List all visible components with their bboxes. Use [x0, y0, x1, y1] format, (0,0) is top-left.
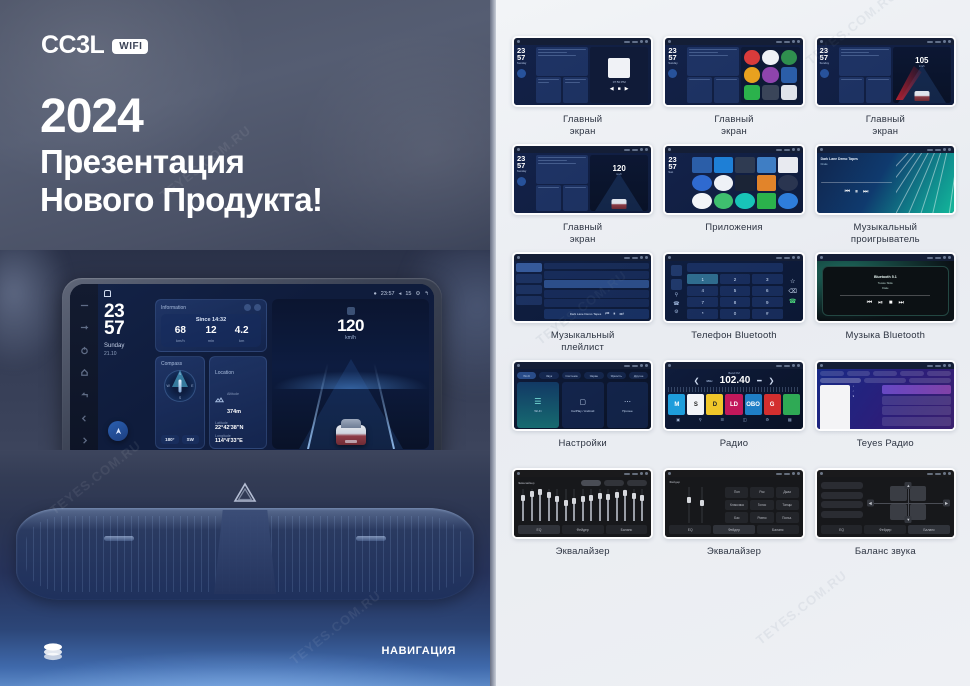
a-pillar-left	[0, 250, 70, 370]
speed-value: 120	[272, 317, 429, 334]
preset-key[interactable]: Бас	[725, 512, 748, 523]
trip-stat: 12 min	[196, 326, 227, 343]
app-icon[interactable]	[735, 193, 754, 209]
seek-next-button[interactable]	[80, 436, 89, 445]
trip-since: Since 14:32	[165, 317, 257, 323]
gallery-caption: Эквалайзер	[556, 546, 610, 570]
track-title: Dark Lane Demo Tapes	[821, 157, 893, 161]
caption-line-2: экран	[866, 126, 905, 138]
gallery-caption: Музыка Bluetooth	[846, 330, 926, 354]
balance-up-button[interactable]: ▲	[905, 482, 912, 489]
dialpad-key[interactable]: 4	[687, 286, 718, 296]
balance-preset[interactable]	[821, 482, 863, 489]
compass-direction: SW	[182, 435, 200, 444]
stop-icon[interactable]: ■	[889, 300, 893, 307]
settings-card[interactable]: ▢ CarPlay / Android	[562, 382, 604, 428]
audio-tabs[interactable]: EQ Фейдер Баланс	[669, 525, 798, 534]
compass-north: N	[179, 372, 182, 376]
volume-icon: ◂	[399, 291, 402, 297]
speed-unit: km/h	[272, 335, 429, 341]
gallery-caption: Телефон Bluetooth	[691, 330, 777, 354]
dialed-number-field[interactable]	[687, 263, 782, 272]
compass-dial: N S W E	[164, 370, 196, 402]
teyes-subtab[interactable]	[909, 378, 951, 383]
car-dashboard-photo: ● 23:57 ◂ 15 ⚙ ↰ 23 57 Sunday 21.10	[0, 250, 490, 686]
caption-line-1: Музыка Bluetooth	[846, 330, 926, 342]
eq-band[interactable]	[588, 489, 594, 521]
progress-bar[interactable]	[821, 182, 893, 183]
prev-icon[interactable]: ◀	[610, 86, 614, 92]
wifi-badge: WIFI	[112, 39, 148, 54]
dialpad-key[interactable]: 5	[720, 286, 751, 296]
dialpad-key[interactable]: #	[752, 309, 783, 319]
audio-tab[interactable]: Баланс	[757, 525, 799, 534]
thumb-clock-minutes: 57	[820, 54, 837, 61]
back-button[interactable]	[80, 391, 89, 400]
thumbnail-teyes-radio[interactable]: ♪○♥	[815, 360, 956, 431]
visualizer-lines	[896, 153, 954, 213]
favorite-icon[interactable]: ☆	[790, 278, 795, 285]
hardware-button-strip[interactable]	[70, 284, 98, 462]
eq-band[interactable]	[520, 489, 526, 521]
eq-band[interactable]	[596, 489, 602, 521]
app-icon[interactable]	[757, 175, 776, 191]
driving-view-widget[interactable]: 120 km/h	[272, 299, 429, 449]
navigation-arrow-icon[interactable]	[108, 421, 128, 441]
thumb-speed-unit: km/h	[590, 173, 648, 176]
apps-icon[interactable]: ▦	[788, 417, 792, 422]
preset-key[interactable]: Ровно	[750, 512, 773, 523]
caption-line-1: Главный	[563, 222, 602, 234]
settings-tab[interactable]: Другое	[629, 372, 648, 379]
radio-preset[interactable]: S	[687, 394, 704, 415]
caption-line-2: экран	[714, 126, 753, 138]
gallery-caption: Главный экран	[866, 114, 905, 138]
compass-card[interactable]: Compass N S W E 180°	[155, 356, 205, 449]
gallery-item[interactable]: Band FM ❮ MHz 102.40 ━ ❯ M S D LD OB	[663, 360, 804, 462]
compass-east: E	[191, 384, 193, 388]
thumbnail-sound-balance[interactable]: ▲ ▼ ◀ ▶ EQ Фейдер Баланс	[815, 468, 956, 539]
progress-bar[interactable]	[840, 295, 930, 296]
radio-preset[interactable]: LD	[725, 394, 742, 415]
next-icon[interactable]: ⏭	[620, 311, 624, 316]
prev-icon[interactable]: ⏮	[605, 311, 609, 316]
dialpad-key[interactable]: 8	[720, 297, 751, 307]
thumbnail-bluetooth-phone[interactable]: ⚲ ☎ ⚙ 1 2 3 4 5 6 7	[663, 252, 804, 323]
caption-line-1: Телефон Bluetooth	[691, 330, 777, 342]
teyes-tab[interactable]	[927, 371, 951, 376]
balance-presets[interactable]	[821, 482, 863, 523]
settings-card-label: Wi-Fi	[534, 409, 541, 413]
balance-preset[interactable]	[821, 511, 863, 518]
thumbnail-music-player[interactable]: Dark Lane Demo Tapes Drake ⏮ ⏸ ⏭	[815, 144, 956, 215]
dialpad-key[interactable]: 2	[720, 274, 751, 284]
seat	[910, 486, 927, 502]
audio-tabs[interactable]: EQ Фейдер Баланс	[821, 525, 950, 534]
caption-line-2: проигрыватель	[851, 234, 920, 246]
radio-preset[interactable]: D	[706, 394, 723, 415]
dialpad-key[interactable]: 9	[752, 297, 783, 307]
app-icon[interactable]	[692, 157, 711, 173]
settings-tab[interactable]: Звук	[539, 372, 558, 379]
caption-line-1: Teyes Радио	[857, 438, 914, 450]
caption-line-1: Эквалайзер	[707, 546, 761, 558]
screen-body: 23 57 Sunday 21.10 Information	[104, 299, 429, 449]
audio-tab[interactable]: Баланс	[606, 525, 648, 534]
mini-player-bar[interactable]: Dark Lane Demo Tapes ⏮ ⏸ ⏭	[544, 309, 649, 319]
trip-avg-speed-value: 68	[165, 326, 196, 336]
app-icon[interactable]	[757, 157, 776, 173]
refresh-icon[interactable]	[244, 304, 251, 311]
clock-minutes: 57	[104, 320, 150, 337]
latitude-value: 22°42'38"N	[215, 425, 261, 431]
call-log-icon[interactable]: ☎	[673, 301, 679, 307]
thumb-speed-value: 120	[590, 164, 648, 173]
app-icon[interactable]	[692, 193, 711, 209]
settings-tab[interactable]: Яркость	[607, 372, 626, 379]
thumb-clock-minutes: 57	[668, 54, 685, 61]
radio-preset[interactable]: G	[764, 394, 781, 415]
eq-band[interactable]	[605, 489, 611, 521]
radio-toolbar[interactable]: ▣ ⚲ ☰ ◫ ⚙ ▦	[668, 417, 799, 422]
compass-heading: 180°	[161, 435, 179, 444]
head-unit-screen[interactable]: ● 23:57 ◂ 15 ⚙ ↰ 23 57 Sunday 21.10	[70, 284, 434, 462]
audio-tab[interactable]: Баланс	[908, 525, 950, 534]
balance-right-button[interactable]: ▶	[943, 499, 950, 506]
list-icon[interactable]: ☰	[721, 417, 725, 422]
eq-band[interactable]	[639, 489, 645, 521]
gallery-caption: Главный экран	[563, 222, 602, 246]
fader-slider[interactable]	[687, 487, 691, 523]
thumbnail-settings[interactable]: Wi-Fi Звук Система Экран Яркость Другое …	[512, 360, 653, 431]
radio-preset[interactable]: M	[668, 394, 685, 415]
next-icon[interactable]: ▶	[625, 86, 629, 92]
bt-track-artist: Drake	[882, 287, 888, 290]
app-icon[interactable]	[757, 193, 776, 209]
expand-icon[interactable]	[254, 304, 261, 311]
balance-down-button[interactable]: ▼	[905, 516, 912, 523]
preset-key[interactable]: Поп	[725, 487, 748, 498]
eq-band[interactable]	[554, 489, 560, 521]
eq-band[interactable]	[562, 489, 568, 521]
thumb-speed-unit: km/h	[893, 65, 951, 68]
dialpad-key[interactable]: *	[687, 309, 718, 319]
gallery-caption: Радио	[720, 438, 748, 462]
preset-key[interactable]: Джаз	[776, 487, 799, 498]
trip-stat: 68 km/h	[165, 326, 196, 343]
app-icon[interactable]	[778, 193, 797, 209]
thumb-status-bar	[514, 38, 651, 45]
prev-icon[interactable]: ⏮	[845, 189, 850, 196]
phone-link-icon: ▢	[579, 398, 586, 406]
mute-button[interactable]	[80, 301, 89, 310]
next-icon[interactable]: ⏭	[899, 300, 904, 307]
audio-tabs[interactable]: EQ Фейдер Баланс	[518, 525, 647, 534]
app-icon[interactable]	[735, 157, 754, 173]
gallery-item[interactable]: Dark Lane Demo Tapes Drake ⏮ ⏸ ⏭	[815, 144, 956, 246]
dialpad[interactable]: 1 2 3 4 5 6 7 8 9 * 0 #	[687, 274, 782, 319]
teyes-subtab[interactable]	[820, 378, 862, 383]
gallery-item[interactable]: 23 57 Sunday 120	[512, 144, 653, 246]
eq-band[interactable]	[622, 489, 628, 521]
caption-line-1: Главный	[714, 114, 753, 126]
dialpad-key[interactable]: 0	[720, 309, 751, 319]
frequency-scale[interactable]	[668, 387, 799, 392]
app-icon[interactable]	[714, 175, 733, 191]
thumbnail-home-speed[interactable]: 23 57 Sunday 120	[512, 144, 653, 215]
gallery-item[interactable]: 23 57 Sunday	[815, 36, 956, 138]
thumbnail-home-apps[interactable]: 23 57 Sunday	[663, 36, 804, 107]
trip-duration-value: 12	[196, 326, 227, 336]
gallery-item[interactable]: Dark Lane Demo Tapes ⏮ ⏸ ⏭ Музыкальный п…	[512, 252, 653, 354]
pause-icon[interactable]: ⏸	[855, 189, 858, 196]
search-icon[interactable]: ⚲	[674, 292, 678, 298]
dialpad-key[interactable]: 6	[752, 286, 783, 296]
settings-card-label: CarPlay / Android	[571, 409, 594, 413]
audio-tab[interactable]: Фейдер	[562, 525, 604, 534]
album-art	[820, 385, 850, 431]
teyes-tab[interactable]	[847, 371, 871, 376]
station-item[interactable]	[882, 406, 951, 415]
teyes-tab[interactable]	[900, 371, 924, 376]
band-icon[interactable]: ▣	[676, 417, 680, 422]
thumb-clock-minutes: 57	[517, 54, 534, 61]
play-pause-icon[interactable]: ⏯	[878, 300, 883, 307]
gallery-item[interactable]: Фейдер Поп Рок Джаз Классика Голос Т	[663, 468, 804, 570]
hero-footer: НАВИГАЦИЯ	[0, 624, 490, 686]
next-station-icon[interactable]: ❯	[768, 377, 774, 385]
layers-icon[interactable]	[41, 642, 65, 662]
gallery-caption: Главный экран	[563, 114, 602, 138]
eq-band[interactable]	[571, 489, 577, 521]
app-icon[interactable]	[692, 175, 711, 191]
eq-band[interactable]	[545, 489, 551, 521]
app-icon[interactable]	[778, 175, 797, 191]
eq-band[interactable]	[537, 489, 543, 521]
caption-line-2: экран	[563, 126, 602, 138]
compass-west: W	[167, 384, 170, 388]
eq-band[interactable]	[613, 489, 619, 521]
information-card[interactable]: Information Since 14:32 68	[155, 299, 267, 352]
caption-line-1: Настройки	[558, 438, 606, 450]
caption-line-1: Музыкальный	[851, 222, 920, 234]
teyes-tab[interactable]	[873, 371, 897, 376]
playlist-sidebar[interactable]	[516, 263, 542, 319]
power-button[interactable]	[80, 346, 89, 355]
vehicle-3d-model	[334, 415, 368, 445]
gallery-item[interactable]: ⚲ ☎ ⚙ 1 2 3 4 5 6 7	[663, 252, 804, 354]
status-volume: 15	[405, 291, 411, 297]
settings-card-label: Прочее	[622, 409, 632, 413]
audio-tab[interactable]: EQ	[669, 525, 711, 534]
vent-control-left[interactable]	[104, 536, 134, 541]
altitude-label: Altitude	[227, 392, 239, 396]
thumbnail-equalizer[interactable]: Эквалайзер	[512, 468, 653, 539]
gallery-item[interactable]: Wi-Fi Звук Система Экран Яркость Другое …	[512, 360, 653, 462]
headline-year: 2024	[40, 92, 322, 143]
radio-presets[interactable]: M S D LD OBO G	[668, 394, 799, 415]
preset-key[interactable]: Классика	[725, 500, 748, 511]
preset-grid[interactable]: Поп Рок Джаз Классика Голос Танцы Бас Ро…	[725, 487, 798, 523]
preset-key[interactable]: Польз.	[776, 512, 799, 523]
wifi-icon: ☰	[534, 397, 541, 406]
back-icon[interactable]: ↰	[424, 291, 429, 297]
bt-track-title: Toosie Slide	[878, 281, 893, 285]
teyes-tab[interactable]	[820, 371, 844, 376]
seek-prev-button[interactable]	[80, 414, 89, 423]
app-icon[interactable]	[735, 175, 754, 191]
dialpad-key[interactable]: 3	[752, 274, 783, 284]
gallery-item[interactable]: 23 57 Sunday	[663, 36, 804, 138]
hazard-light-button[interactable]	[232, 480, 258, 504]
screen-content: ● 23:57 ◂ 15 ⚙ ↰ 23 57 Sunday 21.10	[98, 284, 434, 462]
gallery-caption: Эквалайзер	[707, 546, 761, 570]
station-item[interactable]	[882, 396, 951, 405]
settings-tab[interactable]: Система	[562, 372, 581, 379]
settings-tab[interactable]: Экран	[584, 372, 603, 379]
thumb-speed-value: 105	[893, 56, 951, 65]
status-time: 23:57	[381, 291, 395, 297]
thumbnail-grid: 23 57 Sunday 07:50 PM	[512, 36, 956, 570]
app-icon[interactable]	[778, 157, 797, 173]
now-playing-title: Dark Lane Demo Tapes	[570, 312, 601, 316]
dialpad-key[interactable]: 7	[687, 297, 718, 307]
audio-tab[interactable]: Фейдер	[713, 525, 755, 534]
headline-line-2: Нового Продукта!	[40, 181, 322, 220]
gallery-caption: Баланс звука	[855, 546, 916, 570]
compass-title: Compass	[161, 361, 199, 367]
app-icon[interactable]	[714, 193, 733, 209]
preset-key[interactable]: Танцы	[776, 500, 799, 511]
caption-line-2: плейлист	[551, 342, 615, 354]
settings-icon[interactable]: ⚙	[766, 417, 770, 422]
trip-avg-speed-unit: km/h	[165, 338, 196, 343]
bluetooth-device: Bluetooth 5.1	[874, 275, 897, 279]
caption-line-1: Музыкальный	[551, 330, 615, 342]
thumbnail-music-playlist[interactable]: Dark Lane Demo Tapes ⏮ ⏸ ⏭	[512, 252, 653, 323]
preset-key[interactable]: Рок	[750, 487, 773, 498]
station-item[interactable]	[882, 417, 951, 426]
balance-preset[interactable]	[821, 492, 863, 499]
search-icon[interactable]: ⚲	[699, 417, 702, 422]
gallery-item[interactable]: 23 57 Sunday 07:50 PM	[512, 36, 653, 138]
compass-south: S	[179, 396, 181, 400]
settings-card[interactable]: ☰ Wi-Fi	[517, 382, 559, 428]
thumbnail-radio[interactable]: Band FM ❮ MHz 102.40 ━ ❯ M S D LD OB	[663, 360, 804, 431]
clock-day: Sunday	[104, 343, 150, 351]
thumb-clock-minutes: 57	[668, 163, 688, 170]
prev-station-icon[interactable]: ❮	[694, 377, 700, 385]
location-card[interactable]: Location Altitude 374m	[209, 356, 267, 449]
trip-distance-unit: km	[226, 338, 257, 343]
trip-duration-unit: min	[196, 338, 227, 343]
home-button[interactable]	[80, 368, 89, 377]
caption-line-1: Эквалайзер	[556, 546, 610, 558]
gallery-item[interactable]: Bluetooth 5.1 Toosie Slide Drake ⏮ ⏯ ■ ⏭	[815, 252, 956, 354]
radio-preset[interactable]	[783, 394, 800, 415]
backspace-icon[interactable]: ⌫	[788, 288, 796, 295]
trip-stat: 4.2 km	[226, 326, 257, 343]
balance-preset[interactable]	[821, 501, 863, 508]
settings-card[interactable]: ⋯ Прочее	[607, 382, 649, 428]
settings-icon[interactable]: ⚙	[674, 309, 678, 315]
eq-band[interactable]	[579, 489, 585, 521]
dialpad-key[interactable]: 1	[687, 274, 718, 284]
thumbnail-bluetooth-music[interactable]: Bluetooth 5.1 Toosie Slide Drake ⏮ ⏯ ■ ⏭	[815, 252, 956, 323]
app-icon[interactable]	[714, 157, 733, 173]
settings-tabs[interactable]: Wi-Fi Звук Система Экран Яркость Другое	[517, 372, 648, 379]
audio-tab[interactable]: Фейдер	[864, 525, 906, 534]
eq-band[interactable]	[528, 489, 534, 521]
tune-icon[interactable]: ━	[757, 377, 761, 385]
pause-icon[interactable]: ⏸	[613, 311, 615, 316]
gallery-caption: Музыкальный плейлист	[551, 330, 615, 354]
balance-pad[interactable]: ▲ ▼ ◀ ▶	[867, 482, 950, 523]
gallery-item[interactable]: ▲ ▼ ◀ ▶ EQ Фейдер Баланс Баланс звука	[815, 468, 956, 570]
teyes-tabs[interactable]	[820, 371, 951, 376]
preset-key[interactable]: Голос	[750, 500, 773, 511]
volume-button[interactable]	[80, 323, 89, 332]
balance-left-button[interactable]: ◀	[867, 499, 874, 506]
audio-tab[interactable]: EQ	[821, 525, 863, 534]
fader-sliders[interactable]	[669, 487, 721, 523]
gear-icon[interactable]: ⚙	[415, 291, 420, 297]
eq-band-sliders[interactable]	[518, 486, 647, 523]
widget-column: Information Since 14:32 68	[155, 299, 267, 449]
station-list[interactable]	[882, 385, 951, 431]
watermark: TEYES.COM.RU	[753, 567, 850, 647]
phone-sidebar[interactable]: ⚲ ☎ ⚙	[667, 263, 685, 319]
eq-icon[interactable]: ◫	[743, 417, 747, 422]
headline: 2024 Презентация Нового Продукта!	[40, 92, 322, 220]
thumbnail-home-media[interactable]: 23 57 Sunday 07:50 PM	[512, 36, 653, 107]
prev-icon[interactable]: ⏮	[867, 300, 872, 307]
radio-frequency: 102.40	[720, 375, 751, 386]
gallery-caption: Музыкальный проигрыватель	[851, 222, 920, 246]
compass-needle	[179, 380, 182, 393]
longitude-value: 114°4'33"E	[215, 438, 261, 444]
fader-slider[interactable]	[700, 487, 704, 523]
speed-readout: 120 km/h	[272, 307, 429, 341]
station-item[interactable]	[882, 385, 951, 394]
app-grid[interactable]	[690, 156, 799, 210]
seat	[910, 504, 927, 520]
home-icon[interactable]	[104, 290, 111, 297]
thumbnail-home-lane-warning[interactable]: 23 57 Sunday	[815, 36, 956, 107]
call-icon[interactable]: ☎	[789, 298, 796, 305]
caption-line-2: экран	[563, 234, 602, 246]
settings-tab[interactable]: Wi-Fi	[517, 372, 536, 379]
thumbnail-equalizer-presets[interactable]: Фейдер Поп Рок Джаз Классика Голос Т	[663, 468, 804, 539]
gallery-item[interactable]: Эквалайзер	[512, 468, 653, 570]
gallery-caption: Настройки	[558, 438, 606, 462]
gallery-item[interactable]: ♪○♥ Teyes Радио	[815, 360, 956, 462]
teyes-subtab[interactable]	[864, 378, 906, 383]
thumbnail-apps[interactable]: 23 57 Sun	[663, 144, 804, 215]
eq-title: Эквалайзер	[518, 481, 534, 485]
gallery-item[interactable]: 23 57 Sun	[663, 144, 804, 246]
vent-control-right[interactable]	[356, 536, 386, 541]
next-icon[interactable]: ⏭	[863, 189, 868, 196]
wifi-icon: ●	[373, 291, 376, 297]
caption-line-1: Главный	[563, 114, 602, 126]
caption-line-1: Баланс звука	[855, 546, 916, 558]
eq-band[interactable]	[630, 489, 636, 521]
gallery-caption: Главный экран	[714, 114, 753, 138]
stop-icon[interactable]: ■	[618, 86, 621, 92]
audio-tab[interactable]: EQ	[518, 525, 560, 534]
radio-preset[interactable]: OBO	[745, 394, 762, 415]
